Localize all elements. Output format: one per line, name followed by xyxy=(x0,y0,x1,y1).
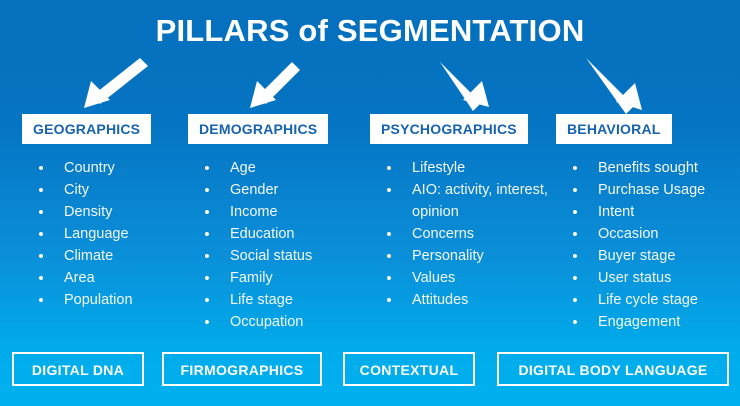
bottom-tag-contextual[interactable]: CONTEXTUAL xyxy=(343,352,475,386)
bullet-icon: • xyxy=(36,290,46,312)
bullet-icon: • xyxy=(202,202,212,224)
list-item: • City xyxy=(22,180,182,202)
bullet-icon: • xyxy=(36,202,46,224)
list-item: • Occupation xyxy=(188,312,360,334)
bullet-icon: • xyxy=(202,268,212,290)
list-item-label: Country xyxy=(64,158,182,180)
pillar-list-geographics: • Country • City • Density • Language • xyxy=(22,158,182,312)
list-item: • Gender xyxy=(188,180,360,202)
bullet-icon: • xyxy=(570,180,580,202)
pillar-list-behavioral: • Benefits sought • Purchase Usage • Int… xyxy=(556,158,732,334)
bullet-icon: • xyxy=(570,268,580,290)
pillar-column-behavioral: BEHAVIORAL • Benefits sought • Purchase … xyxy=(556,114,732,334)
list-item-label: Intent xyxy=(598,202,732,224)
list-item: • Income xyxy=(188,202,360,224)
list-item-label: City xyxy=(64,180,182,202)
list-item: • Life cycle stage xyxy=(556,290,732,312)
pillar-list-psychographics: • Lifestyle • AIO: activity, interest, o… xyxy=(370,158,550,311)
list-item: • Concerns xyxy=(370,224,550,246)
list-item-label: Income xyxy=(230,202,360,224)
list-item-label: Age xyxy=(230,158,360,180)
list-item: • Climate xyxy=(22,246,182,268)
arrow-to-psychographics-icon xyxy=(440,62,489,111)
list-item: • Values xyxy=(370,268,550,290)
bullet-icon: • xyxy=(384,224,394,246)
list-item: • Population xyxy=(22,290,182,312)
list-item: • Language xyxy=(22,224,182,246)
list-item-label: Occupation xyxy=(230,312,360,334)
pillar-columns: GEOGRAPHICS • Country • City • Density •… xyxy=(0,114,740,346)
list-item-label: Engagement xyxy=(598,312,732,334)
list-item: • AIO: activity, interest, opinion xyxy=(370,180,550,223)
list-item-label: Attitudes xyxy=(412,290,550,312)
list-item-label: Benefits sought xyxy=(598,158,732,180)
list-item-label: Concerns xyxy=(412,224,550,246)
bullet-icon: • xyxy=(36,224,46,246)
bullet-icon: • xyxy=(202,224,212,246)
bullet-icon: • xyxy=(36,180,46,202)
list-item-label: Lifestyle xyxy=(412,158,550,180)
pillar-column-psychographics: PSYCHOGRAPHICS • Lifestyle • AIO: activi… xyxy=(370,114,550,312)
list-item-label: Language xyxy=(64,224,182,246)
arrow-to-demographics-icon xyxy=(250,62,300,108)
bullet-icon: • xyxy=(36,268,46,290)
list-item: • Education xyxy=(188,224,360,246)
bullet-icon: • xyxy=(202,246,212,268)
bullet-icon: • xyxy=(384,290,394,312)
list-item: • Personality xyxy=(370,246,550,268)
list-item: • Buyer stage xyxy=(556,246,732,268)
bullet-icon: • xyxy=(384,268,394,290)
bottom-tag-firmographics[interactable]: FIRMOGRAPHICS xyxy=(162,352,322,386)
list-item-label: Purchase Usage xyxy=(598,180,732,202)
list-item-label: Area xyxy=(64,268,182,290)
list-item: • Social status xyxy=(188,246,360,268)
pillar-header-geographics[interactable]: GEOGRAPHICS xyxy=(22,114,151,144)
bullet-icon: • xyxy=(202,312,212,334)
bullet-icon: • xyxy=(570,246,580,268)
list-item: • Density xyxy=(22,202,182,224)
bullet-icon: • xyxy=(36,246,46,268)
bottom-tags-row: DIGITAL DNA FIRMOGRAPHICS CONTEXTUAL DIG… xyxy=(0,352,740,388)
list-item-label: Family xyxy=(230,268,360,290)
list-item: • Age xyxy=(188,158,360,180)
list-item-label: Values xyxy=(412,268,550,290)
bullet-icon: • xyxy=(202,158,212,180)
bullet-icon: • xyxy=(384,180,394,202)
list-item-label: Population xyxy=(64,290,182,312)
list-item: • User status xyxy=(556,268,732,290)
list-item-label: Life cycle stage xyxy=(598,290,732,312)
list-item-label: Personality xyxy=(412,246,550,268)
segmentation-infographic: PILLARS of SEGMENTATION GEOGRAPHICS xyxy=(0,0,740,406)
bullet-icon: • xyxy=(570,290,580,312)
list-item: • Family xyxy=(188,268,360,290)
list-item-label: Climate xyxy=(64,246,182,268)
bullet-icon: • xyxy=(570,202,580,224)
list-item: • Engagement xyxy=(556,312,732,334)
arrow-to-behavioral-icon xyxy=(586,58,642,114)
pillar-header-psychographics[interactable]: PSYCHOGRAPHICS xyxy=(370,114,528,144)
list-item: • Area xyxy=(22,268,182,290)
list-item: • Purchase Usage xyxy=(556,180,732,202)
list-item: • Occasion xyxy=(556,224,732,246)
list-item-label: Buyer stage xyxy=(598,246,732,268)
list-item-label: Gender xyxy=(230,180,360,202)
bottom-tag-digital-dna[interactable]: DIGITAL DNA xyxy=(12,352,144,386)
bullet-icon: • xyxy=(202,180,212,202)
list-item-label: AIO: activity, interest, opinion xyxy=(412,180,550,223)
bullet-icon: • xyxy=(384,158,394,180)
list-item: • Lifestyle xyxy=(370,158,550,180)
list-item: • Intent xyxy=(556,202,732,224)
list-item: • Life stage xyxy=(188,290,360,312)
bottom-tag-digital-body-language[interactable]: DIGITAL BODY LANGUAGE xyxy=(497,352,729,386)
pillar-header-demographics[interactable]: DEMOGRAPHICS xyxy=(188,114,328,144)
bullet-icon: • xyxy=(570,158,580,180)
list-item-label: Occasion xyxy=(598,224,732,246)
pillar-header-behavioral[interactable]: BEHAVIORAL xyxy=(556,114,672,144)
list-item: • Benefits sought xyxy=(556,158,732,180)
list-item: • Attitudes xyxy=(370,290,550,312)
pillar-column-geographics: GEOGRAPHICS • Country • City • Density •… xyxy=(22,114,182,312)
list-item-label: Life stage xyxy=(230,290,360,312)
arrow-to-geographics-icon xyxy=(84,58,148,108)
bullet-icon: • xyxy=(570,312,580,334)
list-item-label: Education xyxy=(230,224,360,246)
page-title: PILLARS of SEGMENTATION xyxy=(0,13,740,49)
list-item-label: Density xyxy=(64,202,182,224)
bullet-icon: • xyxy=(202,290,212,312)
list-item-label: User status xyxy=(598,268,732,290)
bullet-icon: • xyxy=(384,246,394,268)
list-item-label: Social status xyxy=(230,246,360,268)
pillar-column-demographics: DEMOGRAPHICS • Age • Gender • Income • E… xyxy=(188,114,360,334)
bullet-icon: • xyxy=(36,158,46,180)
list-item: • Country xyxy=(22,158,182,180)
pillar-list-demographics: • Age • Gender • Income • Education • xyxy=(188,158,360,334)
bullet-icon: • xyxy=(570,224,580,246)
